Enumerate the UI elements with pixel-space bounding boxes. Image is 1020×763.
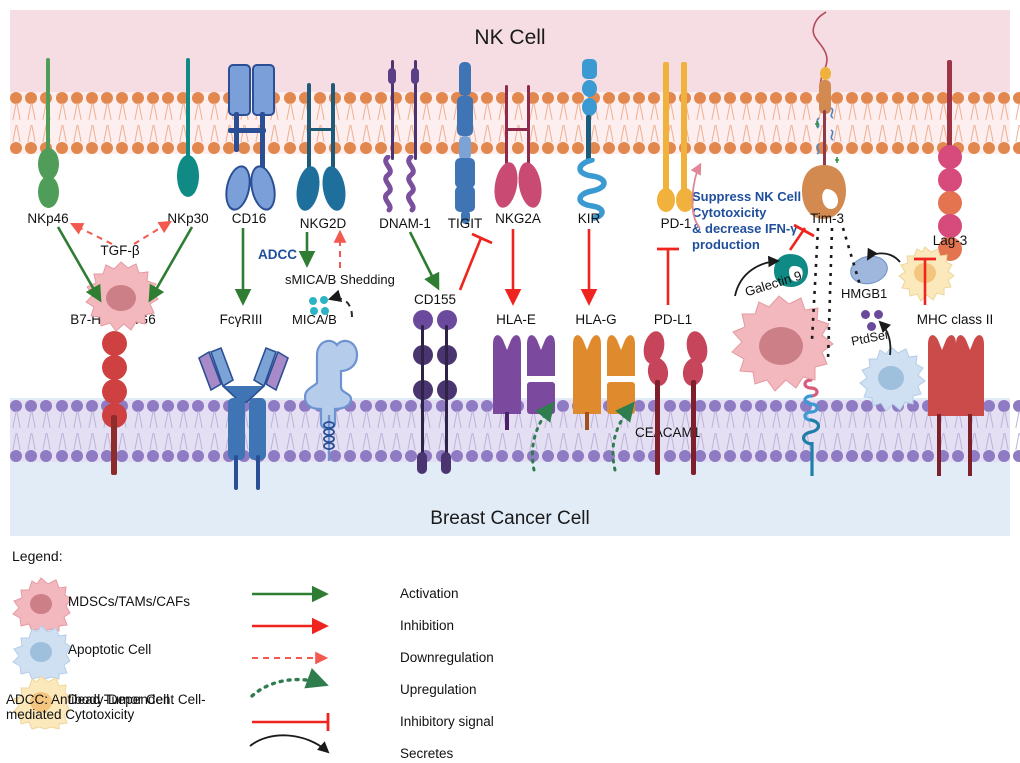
apoptotic-cell-icon (855, 345, 927, 413)
hla-e-icon (485, 330, 557, 430)
legend-apoptotic-icon (10, 624, 72, 680)
receptor-label-nkp30: NKp30 (167, 211, 208, 226)
cancer-cell-label: Breast Cancer Cell (0, 508, 1020, 530)
receptor-label-nkg2a: NKG2A (495, 211, 541, 226)
nk-cell-label: NK Cell (0, 26, 1020, 50)
receptor-label-nkp46: NKp46 (27, 211, 68, 226)
abbrev-line-2: mediated Cytotoxicity (6, 707, 256, 722)
legend-label-inhibition: Inhibition (400, 618, 454, 633)
legend: Legend: MDSCs/TAMs/CAFs Apoptotic Cell D… (0, 536, 1020, 763)
receptor-label-pd1: PD-1 (661, 216, 692, 231)
annotation-line-3: & decrease IFN-γ (692, 221, 801, 237)
dead-tumor-cell-icon (894, 245, 956, 303)
ligand-label-cd155: CD155 (414, 292, 456, 307)
receptor-label-cd16: CD16 (232, 211, 267, 226)
factor-label-micab: MICA/B (292, 312, 337, 327)
ligand-label-hla-g: HLA-G (575, 312, 616, 327)
mdsc-cell-large-icon (717, 292, 842, 410)
mdsc-cell-icon (76, 258, 166, 343)
micab-structure-icon (295, 335, 369, 465)
legend-arrow-symbols (248, 570, 388, 760)
ligand-label-mhc-ii: MHC class II (917, 312, 994, 327)
annotation-line-4: production (692, 237, 801, 253)
tim3-glycan-icon (805, 104, 861, 174)
annotation-line-2: Cytotoxicity (692, 205, 801, 221)
mhc-ii-icon (920, 330, 990, 480)
receptor-label-dnam1: DNAM-1 (379, 216, 431, 231)
factor-label-smicab-shedding: sMICA/B Shedding (285, 272, 395, 287)
hla-g-icon (565, 330, 637, 430)
ligand-label-hla-e: HLA-E (496, 312, 536, 327)
ligand-label-fcgammariii: FcγRIII (220, 312, 263, 327)
legend-title: Legend: (12, 548, 63, 564)
annotation-line-1: Suppress NK Cell (692, 189, 801, 205)
legend-label-activation: Activation (400, 586, 459, 601)
legend-label-upregulation: Upregulation (400, 682, 477, 697)
legend-label-secretes: Secretes (400, 746, 453, 761)
legend-label-inhibitory-signal: Inhibitory signal (400, 714, 494, 729)
receptor-label-tigit: TIGIT (448, 216, 483, 231)
factor-label-hmgb1: HMGB1 (841, 286, 887, 301)
receptor-label-tim3: Tim-3 (810, 211, 844, 226)
legend-label-apoptotic: Apoptotic Cell (68, 642, 151, 657)
abbreviation-note: ADCC: Antibody-Dependent Cell- mediated … (6, 692, 256, 722)
ligand-label-pdl1: PD-L1 (654, 312, 692, 327)
annotation-suppress-nk: Suppress NK Cell Cytotoxicity & decrease… (692, 189, 801, 253)
process-label-adcc: ADCC (258, 247, 297, 262)
antibody-icon (185, 340, 305, 430)
factor-label-tgf-beta: TGF-β (100, 243, 139, 258)
receptor-label-kir: KIR (578, 211, 601, 226)
legend-label-downregulation: Downregulation (400, 650, 494, 665)
dnam1-coil-icon (378, 155, 438, 215)
receptor-label-nkg2d: NKG2D (300, 216, 347, 231)
abbrev-line-1: ADCC: Antibody-Dependent Cell- (6, 692, 256, 707)
legend-label-mdsc: MDSCs/TAMs/CAFs (68, 594, 190, 609)
figure-canvas: NK Cell Breast Cancer Cell CEACAM1 NKp46… (0, 0, 1020, 763)
